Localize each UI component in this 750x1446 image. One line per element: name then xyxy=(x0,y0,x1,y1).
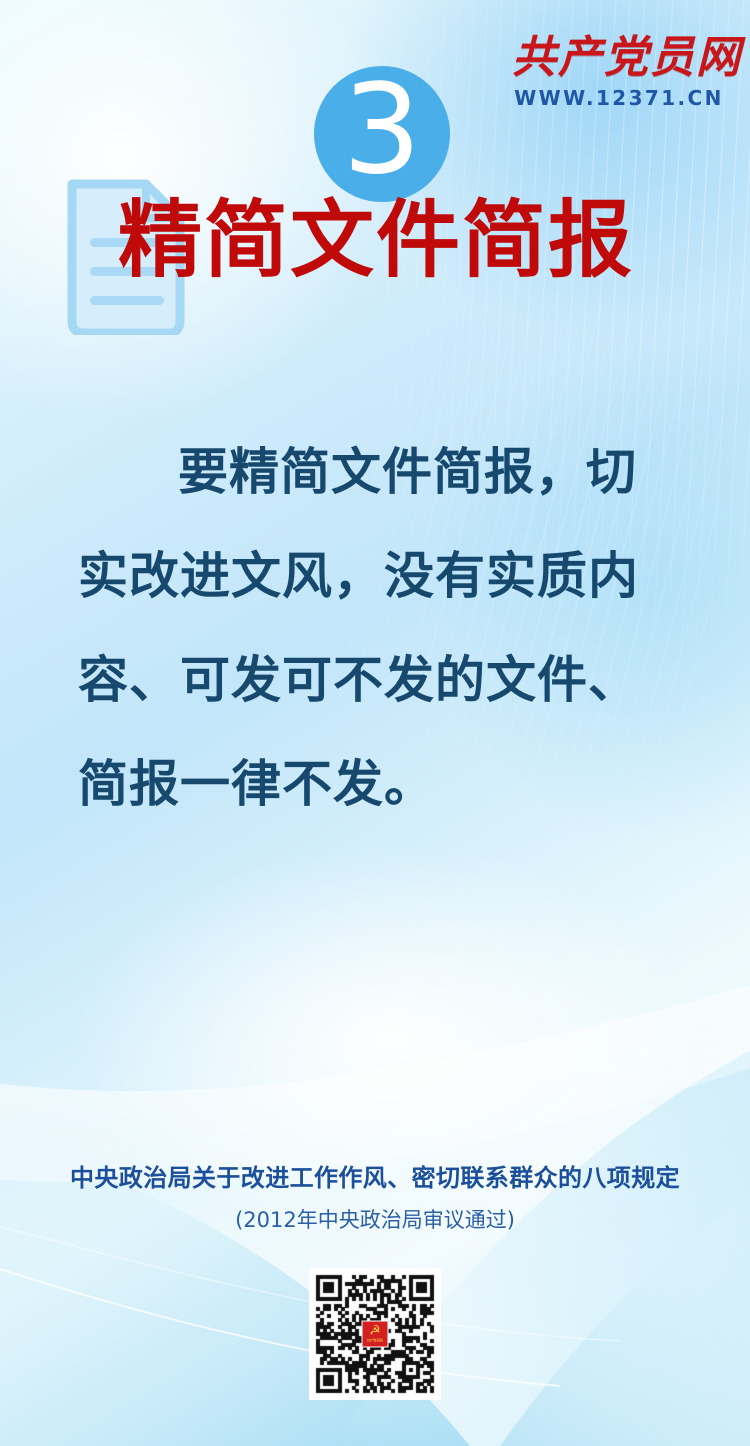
brand-logo[interactable]: 共产党员网 WWW.12371.CN xyxy=(512,36,726,108)
hammer-sickle-icon: ☭ xyxy=(369,1326,381,1338)
brand-url: WWW.12371.CN xyxy=(512,88,726,108)
footer-subtitle: (2012年中央政治局审议通过) xyxy=(0,1204,750,1234)
page-title: 精简文件简报 xyxy=(118,198,634,282)
body-copy: 要精简文件简报，切 实改进文风，没有实质内 容、可发可不发的文件、 简报一律不发… xyxy=(78,420,672,836)
document-line-3 xyxy=(90,296,164,305)
body-line: 容、可发可不发的文件、 xyxy=(78,628,672,732)
number-badge: 3 xyxy=(314,66,450,202)
qr-logo-label: 共产党员网 xyxy=(367,1338,383,1342)
brand-name: 共产党员网 xyxy=(512,36,726,80)
wave-right-secondary xyxy=(500,1156,750,1446)
wave-highlight-line xyxy=(0,1256,560,1386)
qr-code-logo: ☭ 共产党员网 xyxy=(362,1321,389,1348)
body-line: 简报一律不发。 xyxy=(78,732,672,836)
body-line: 要精简文件简报，切 xyxy=(78,420,672,524)
wave-pale-band xyxy=(0,966,750,1183)
footer-title: 中央政治局关于改进工作作风、密切联系群众的八项规定 xyxy=(0,1158,750,1193)
body-line: 实改进文风，没有实质内 xyxy=(78,524,672,628)
number-badge-label: 3 xyxy=(343,68,422,192)
qr-code[interactable]: ☭ 共产党员网 xyxy=(309,1268,441,1400)
glow-center xyxy=(0,760,750,1320)
poster-root: 共产党员网 WWW.12371.CN 3 精简文件简报 要精简文件简报，切 实改… xyxy=(0,0,750,1446)
